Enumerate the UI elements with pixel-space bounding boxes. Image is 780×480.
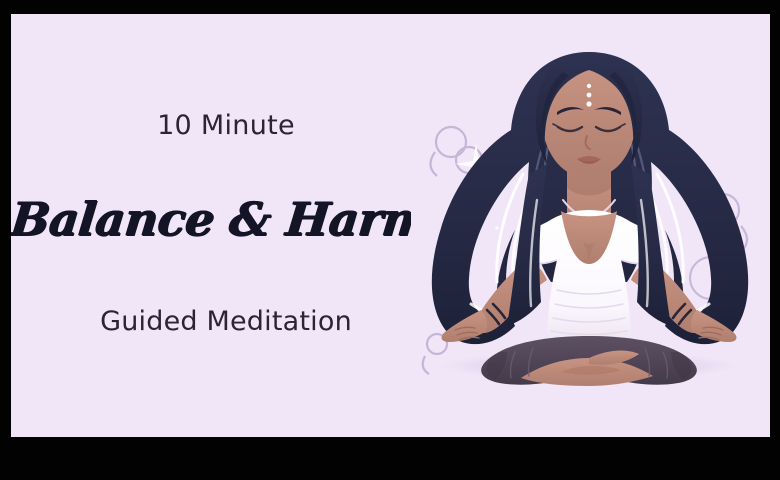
title-slide: 10 Minute Balance & Harmony Guided Medit… bbox=[11, 14, 770, 437]
text-block: 10 Minute Balance & Harmony Guided Medit… bbox=[11, 14, 441, 437]
forehead-dots bbox=[586, 84, 591, 107]
eyebrow-duration-text: 10 Minute bbox=[11, 110, 441, 141]
video-letterbox-frame: 10 Minute Balance & Harmony Guided Medit… bbox=[0, 0, 780, 480]
subhead-text: Guided Meditation bbox=[11, 306, 441, 337]
headline-title: Balance & Harmony bbox=[11, 192, 444, 246]
meditation-illustration bbox=[411, 14, 770, 437]
